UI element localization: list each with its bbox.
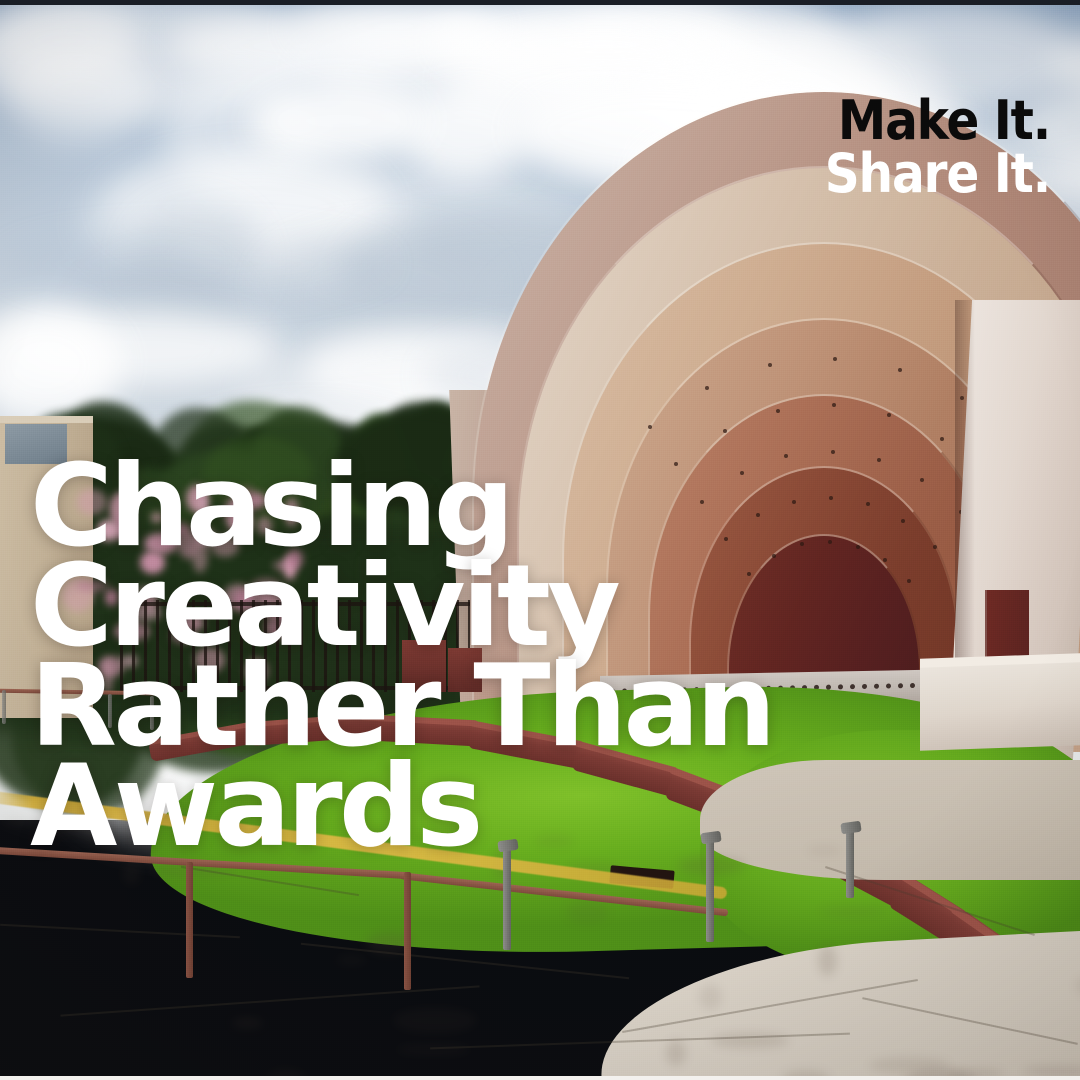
apron-light-dot xyxy=(886,683,891,688)
cloud xyxy=(292,0,496,55)
retaining-wall xyxy=(920,657,1080,751)
arch-bolt xyxy=(772,554,776,558)
handrail-post xyxy=(404,872,411,990)
pavement-stain xyxy=(711,1033,789,1048)
headline-block: Chasing Creativity Rather Than Awards xyxy=(30,456,773,856)
pavement-stain xyxy=(232,1018,263,1028)
bottom-frame-bar xyxy=(0,1076,1080,1080)
handrail-post-metal xyxy=(846,828,854,898)
pavement-stain xyxy=(818,945,837,976)
brand-logo[interactable]: Make It. Share It. xyxy=(825,96,1050,200)
apron-light-dot xyxy=(874,684,879,689)
arch-bolt xyxy=(792,500,796,504)
arch-bolt xyxy=(877,458,881,462)
arch-bolt xyxy=(723,429,727,433)
social-poster: Make It. Share It. Chasing Creativity Ra… xyxy=(0,0,1080,1080)
pavement-stain xyxy=(566,901,609,923)
cloud-shadow xyxy=(0,229,391,299)
cloud xyxy=(248,79,431,163)
arch-bolt xyxy=(940,437,944,441)
apron-light-dot xyxy=(898,683,903,688)
cloud xyxy=(5,43,153,141)
pavement-stain xyxy=(2,818,33,825)
arch-bolt xyxy=(828,540,832,544)
apron-light-dot xyxy=(862,684,867,689)
left-building-cap xyxy=(0,416,93,423)
arch-bolt xyxy=(831,450,835,454)
pavement-stain xyxy=(393,1008,477,1033)
low-fence-post xyxy=(2,690,6,724)
logo-line-make-it: Make It. xyxy=(825,96,1050,147)
pavement-stain xyxy=(666,1040,686,1066)
apron-light-dot xyxy=(910,683,915,688)
handrail-post xyxy=(186,862,193,978)
logo-line-share-it: Share It. xyxy=(825,149,1050,200)
top-frame-bar xyxy=(0,0,1080,5)
apron-light-dot xyxy=(850,684,855,689)
apron-light-dot xyxy=(838,684,843,689)
handrail-post-metal xyxy=(503,846,511,950)
